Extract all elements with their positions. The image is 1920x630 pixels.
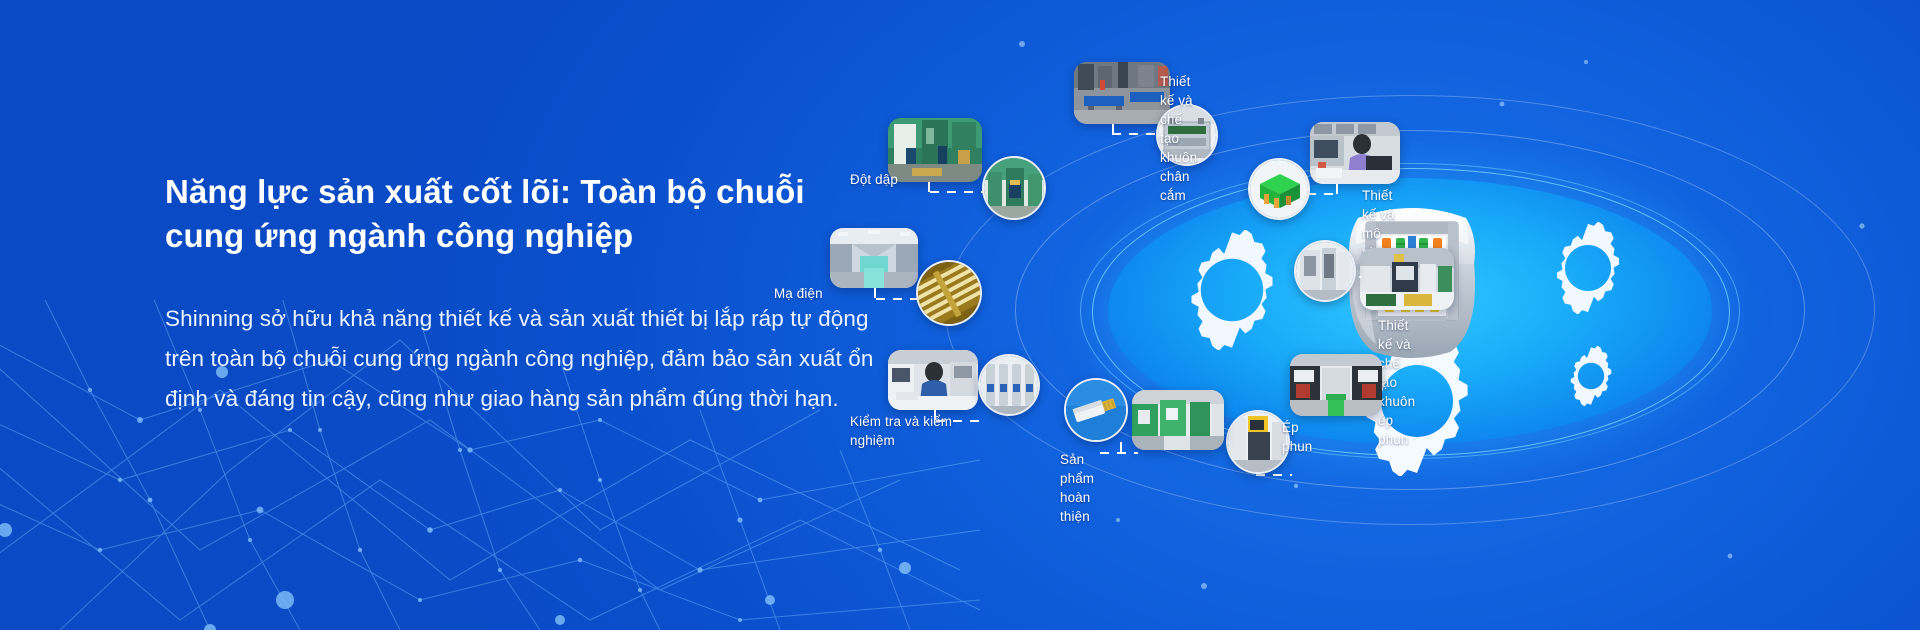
assembly-line-photo[interactable]: [1132, 390, 1224, 450]
stamping-line-photo[interactable]: [888, 118, 982, 182]
connector-tick-finished: [1120, 442, 1122, 452]
connector-dash-finished: [1100, 452, 1138, 454]
node-label-finished: Sản phẩm hoàn thiện: [1060, 450, 1094, 526]
connector-tick-pin-mold: [1112, 124, 1114, 134]
hero-paragraph: Shinning sở hữu khả năng thiết kế và sản…: [165, 299, 895, 419]
node-label-inspection: Kiểm tra và kiểm nghiệm: [850, 412, 960, 450]
stamping-machine-photo[interactable]: [982, 156, 1046, 220]
node-label-pin-mold: Thiết kế và chế tạo khuôn chân cắm: [1160, 72, 1197, 205]
connector-product-photo[interactable]: [1064, 378, 1128, 442]
heading-line-1: Năng lực sản xuất cốt lõi: Toàn bộ chuỗi: [165, 173, 805, 210]
node-label-injection-mold: Thiết kế và chế tạo khuôn ép phun: [1378, 316, 1415, 449]
gold-leadframe-photo[interactable]: [916, 260, 982, 326]
mold-workshop-photo[interactable]: [1074, 62, 1170, 124]
page-title: Năng lực sản xuất cốt lõi: Toàn bộ chuỗi…: [165, 170, 895, 257]
connector-tick-stamping: [928, 182, 930, 192]
test-fixtures-photo[interactable]: [978, 354, 1040, 416]
connector-tick-product-design: [1336, 184, 1338, 194]
connector-dash-pin-mold: [1112, 133, 1160, 135]
hero-banner: Năng lực sản xuất cốt lõi: Toàn bộ chuỗi…: [0, 0, 1920, 630]
lab-inspection-photo[interactable]: [888, 350, 978, 410]
green-3d-model-photo[interactable]: [1248, 158, 1310, 220]
node-label-injection: Ép phun: [1282, 418, 1312, 456]
connector-dash-injection: [1256, 474, 1292, 476]
cnc-machining-photo[interactable]: [1360, 248, 1454, 310]
injection-machine-photo[interactable]: [1226, 410, 1290, 474]
mold-machine-photo[interactable]: [1294, 240, 1356, 302]
plating-line-photo[interactable]: [830, 228, 918, 288]
connector-tick-plating: [874, 288, 876, 298]
engineer-cad-desk-photo[interactable]: [1310, 122, 1400, 184]
node-label-stamping: Đột dập: [850, 170, 898, 189]
connector-dash-stamping: [930, 191, 986, 193]
injection-hall-photo[interactable]: [1290, 354, 1382, 416]
heading-line-2: cung ứng ngành công nghiệp: [165, 217, 633, 254]
node-label-plating: Mạ điện: [774, 284, 823, 303]
supply-chain-diagram: Đột dập: [960, 0, 1920, 630]
